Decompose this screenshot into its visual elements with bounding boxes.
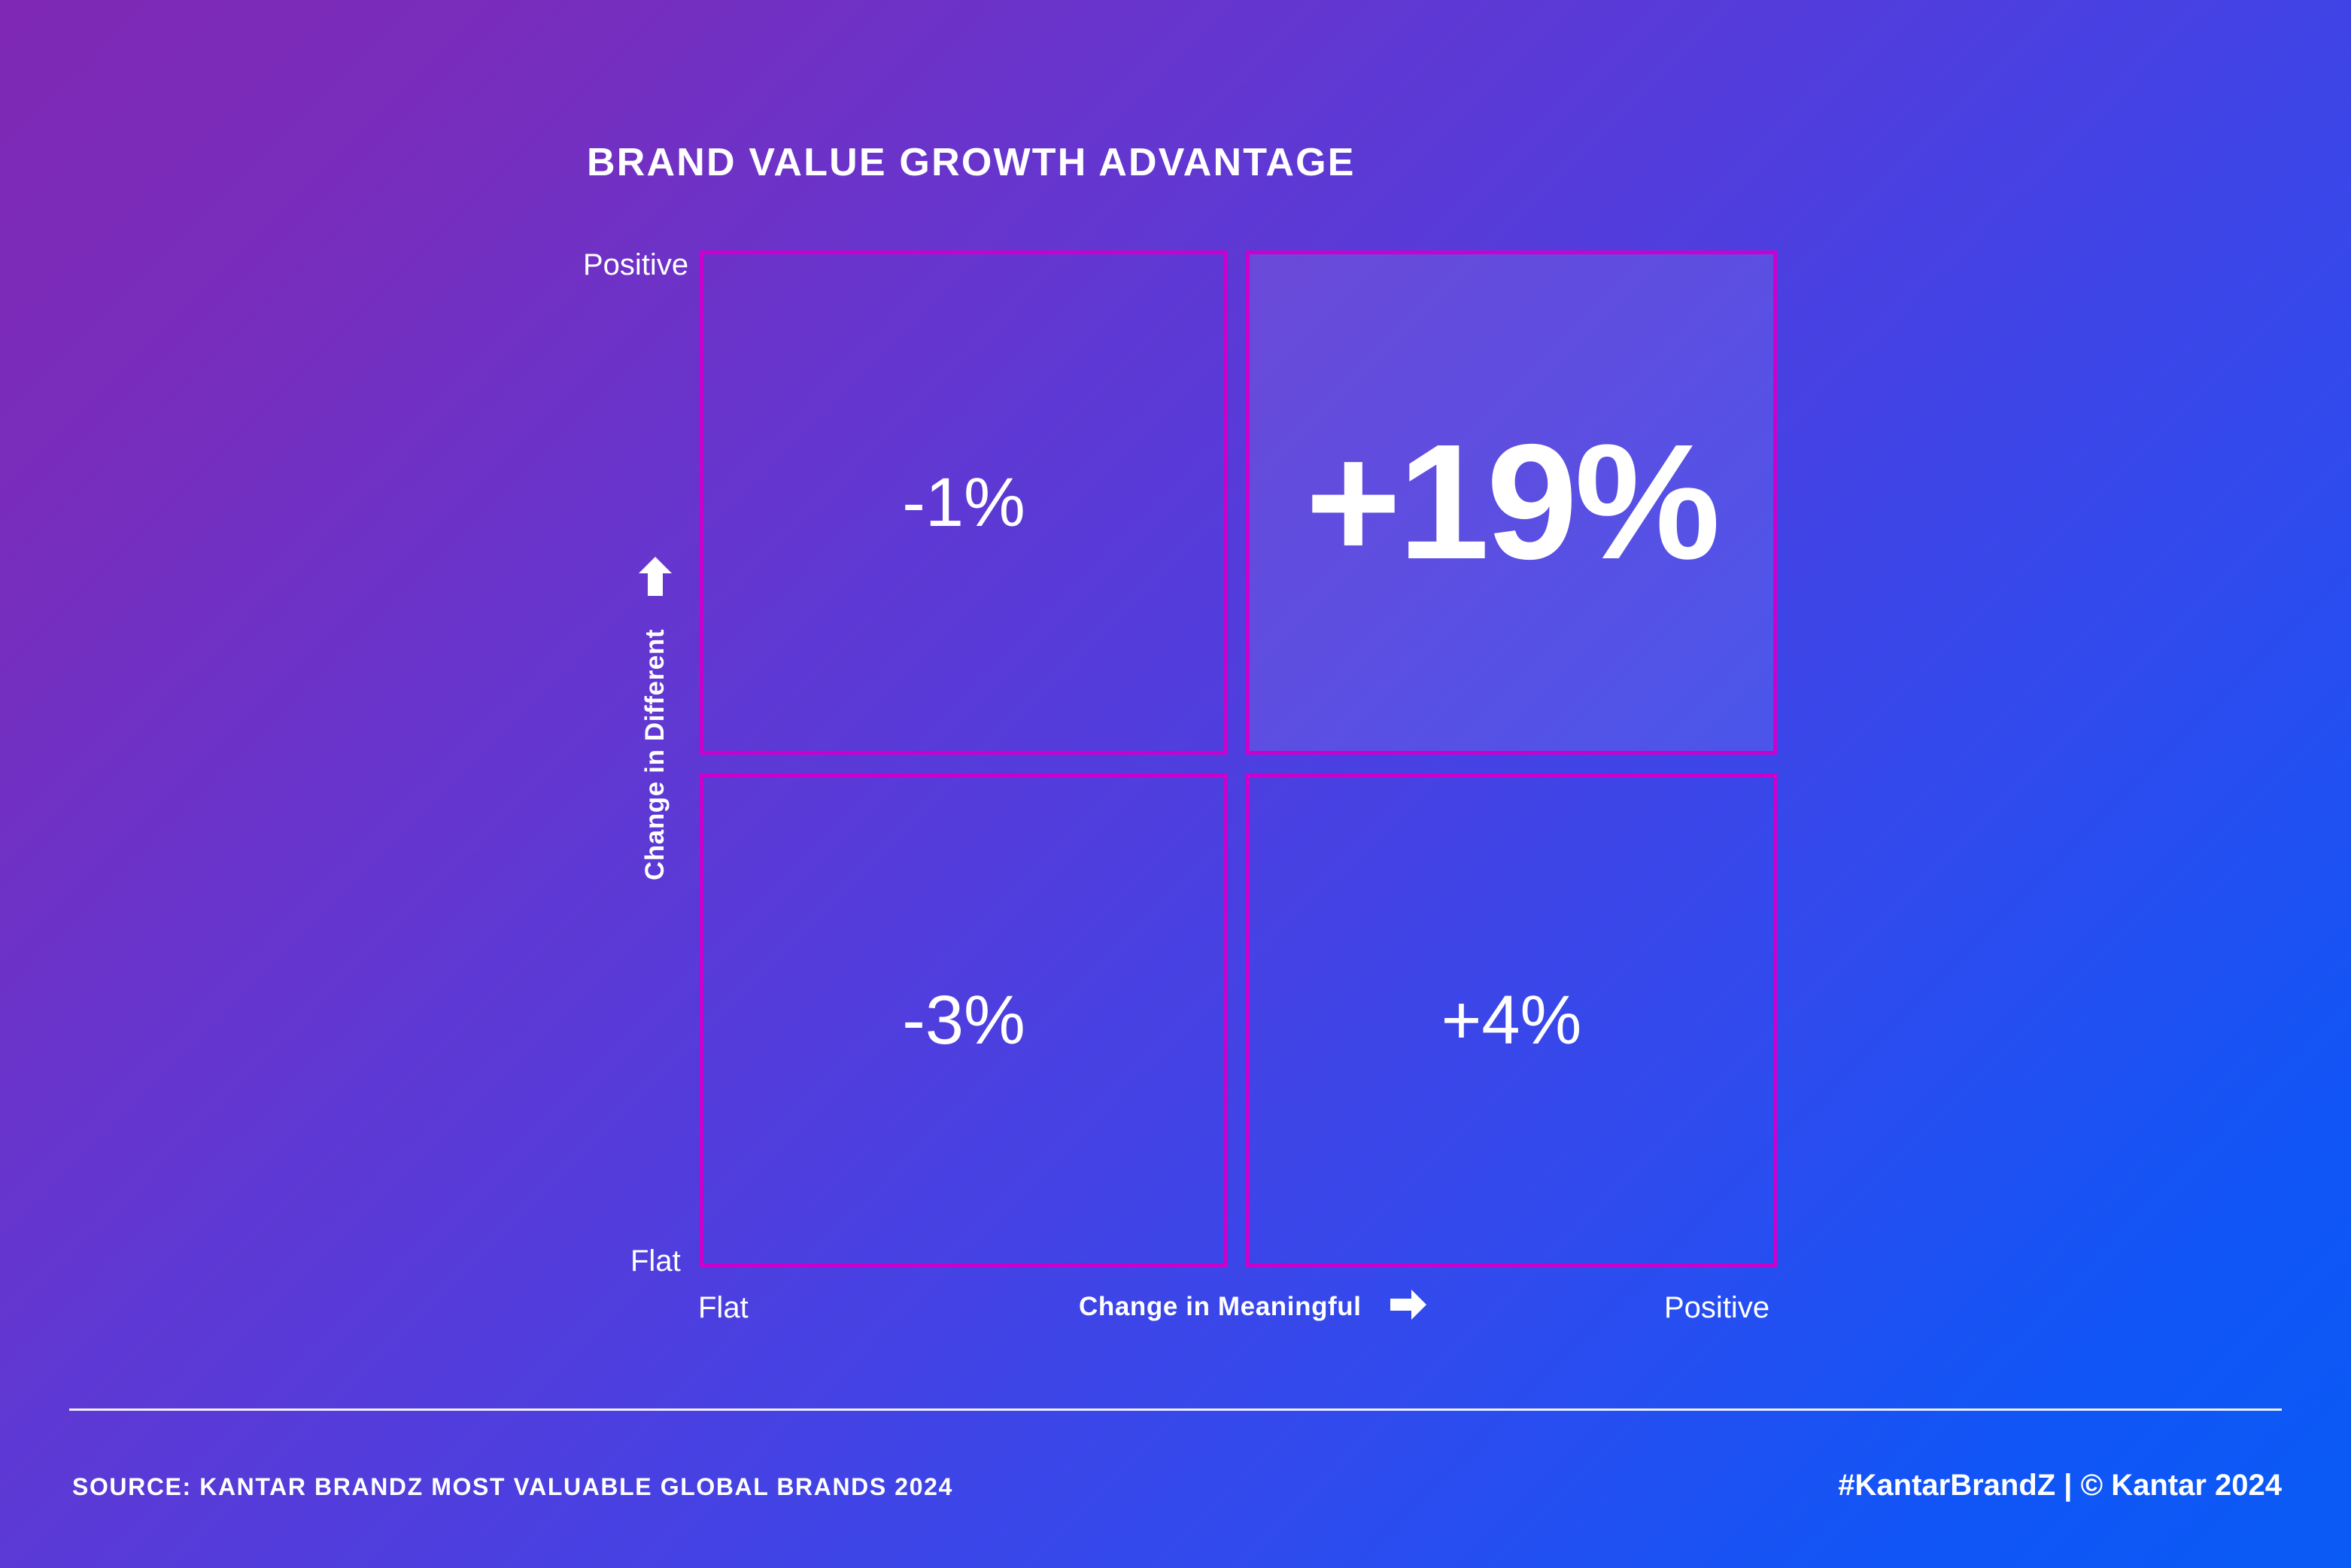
- page-title: BRAND VALUE GROWTH ADVANTAGE: [587, 140, 1356, 185]
- quadrant-value-bottom-left: -3%: [902, 986, 1025, 1055]
- quadrant-cell-bottom-left[interactable]: -3%: [700, 773, 1228, 1267]
- quadrant-value-top-right: +19%: [1305, 421, 1718, 585]
- x-axis-high-tick-label: Positive: [1664, 1291, 1769, 1325]
- y-axis-high-tick-label: Positive: [583, 248, 688, 282]
- y-axis-title: Change in Different: [623, 603, 688, 907]
- arrow-right-icon: [1389, 1288, 1428, 1325]
- x-axis-label-group: Change in Meaningful: [1079, 1288, 1428, 1325]
- footer-divider: [69, 1408, 2282, 1411]
- y-axis-label-group: Change in Different: [623, 553, 688, 907]
- arrow-up-icon: [623, 553, 688, 600]
- y-axis-low-tick-label: Flat: [630, 1244, 681, 1278]
- footer-credit-text: #KantarBrandZ | © Kantar 2024: [1838, 1469, 2282, 1503]
- quadrant-matrix: -1% +19% -3% +4%: [700, 251, 1777, 1267]
- x-axis-title: Change in Meaningful: [1079, 1292, 1362, 1322]
- quadrant-value-bottom-right: +4%: [1441, 986, 1582, 1055]
- x-axis-low-tick-label: Flat: [698, 1291, 749, 1325]
- quadrant-cell-bottom-right[interactable]: +4%: [1246, 773, 1777, 1267]
- y-axis-title-text: Change in Different: [640, 629, 670, 880]
- footer-source-text: SOURCE: KANTAR BRANDZ MOST VALUABLE GLOB…: [72, 1473, 953, 1501]
- quadrant-value-top-left: -1%: [902, 468, 1025, 537]
- quadrant-cell-top-right[interactable]: +19%: [1246, 251, 1777, 755]
- quadrant-cell-top-left[interactable]: -1%: [700, 251, 1228, 755]
